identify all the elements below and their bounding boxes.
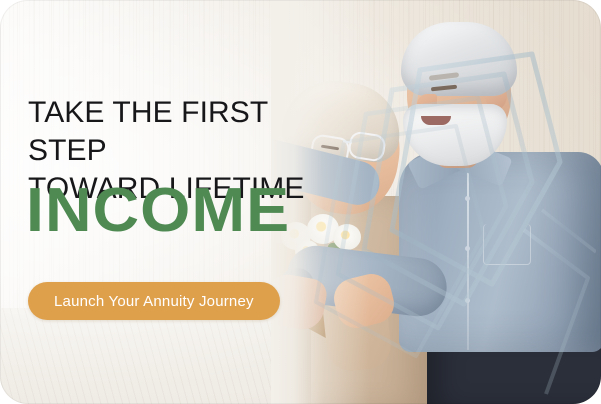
annuity-promo-banner: TAKE THE FIRST STEP TOWARD LIFETIME INCO… <box>0 0 601 404</box>
banner-content: TAKE THE FIRST STEP TOWARD LIFETIME INCO… <box>28 0 328 404</box>
glass-shield-graphic <box>296 34 596 404</box>
emphasis-word-income: INCOME <box>26 180 290 242</box>
shield-outline-svg <box>296 34 596 404</box>
launch-annuity-journey-button[interactable]: Launch Your Annuity Journey <box>28 282 280 320</box>
